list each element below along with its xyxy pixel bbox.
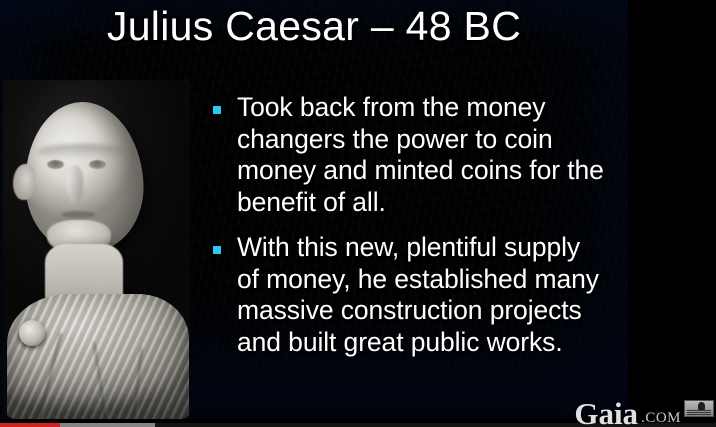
list-item: With this new, plentiful supply of money… [205,232,605,358]
bullet-text: With this new, plentiful supply of money… [237,232,605,358]
watermark-badge-icon [684,400,714,417]
bust-rosette-ornament [19,320,45,346]
bullet-square-icon [213,246,221,254]
list-item: Took back from the money changers the po… [205,92,605,218]
bust-brow [37,144,129,160]
bullet-text: Took back from the money changers the po… [237,92,605,218]
bust-ear [13,164,35,200]
bullet-list: Took back from the money changers the po… [205,92,605,372]
bust-mouth [61,211,95,218]
video-progress-bar[interactable] [0,423,716,427]
presentation-slide: Julius Caesar – 48 BC Took back from the… [0,0,628,419]
slide-title: Julius Caesar – 48 BC [0,1,628,51]
bullet-square-icon [213,106,221,114]
progress-buffered [60,423,155,427]
bust-nose [67,166,83,204]
badge-text-lines [687,410,711,415]
bust-eye-left [47,160,64,169]
progress-played [0,423,60,427]
bust-eye-right [89,160,106,169]
video-frame: Julius Caesar – 48 BC Took back from the… [0,0,716,427]
caesar-bust-image [3,80,190,419]
